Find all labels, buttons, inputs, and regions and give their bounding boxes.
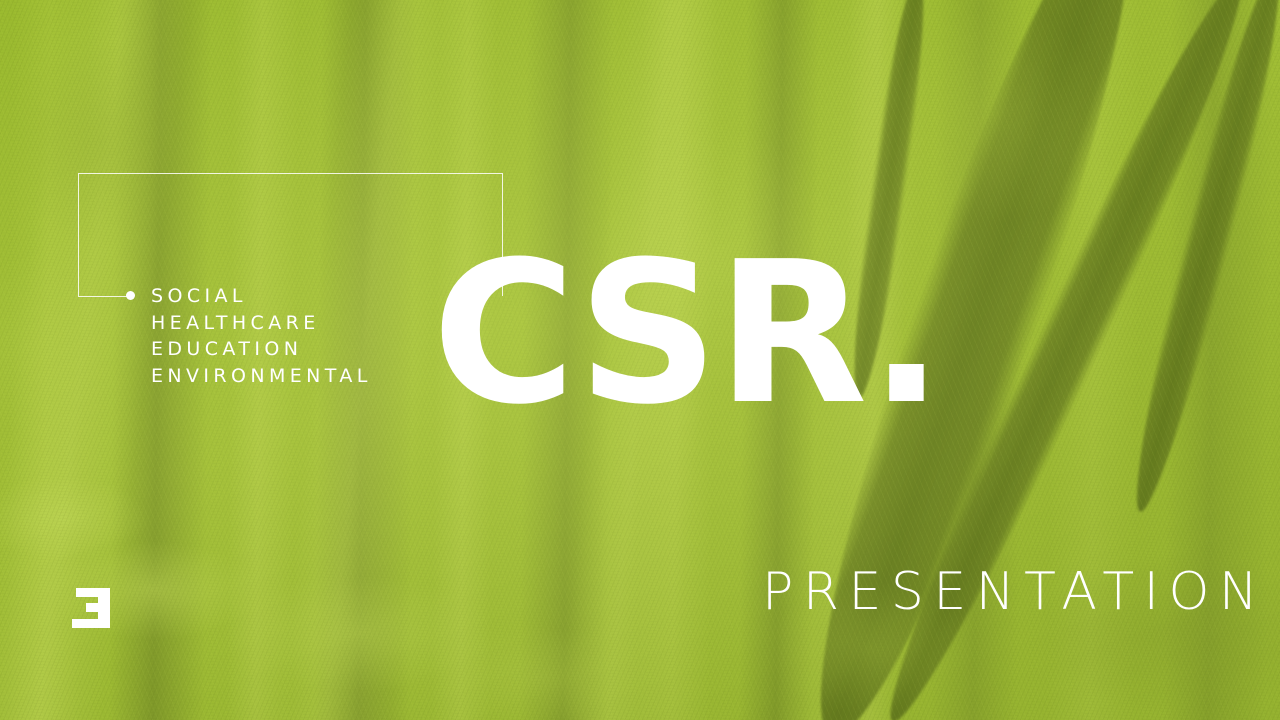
presentation-slide: SOCIAL HEALTHCARE EDUCATION ENVIRONMENTA… — [0, 0, 1280, 720]
keyword-item-environmental: ENVIRONMENTAL — [151, 363, 372, 390]
decorative-frame-dot — [126, 291, 135, 300]
keyword-list: SOCIAL HEALTHCARE EDUCATION ENVIRONMENTA… — [151, 283, 372, 389]
keyword-item-social: SOCIAL — [151, 283, 372, 310]
slide-title: CSR. — [432, 236, 942, 432]
slide-subtitle: PRESENTATION — [762, 566, 1267, 618]
keyword-item-education: EDUCATION — [151, 336, 372, 363]
reversed-e-logo — [72, 588, 110, 628]
decorative-frame-baseline — [78, 296, 130, 297]
keyword-item-healthcare: HEALTHCARE — [151, 310, 372, 337]
